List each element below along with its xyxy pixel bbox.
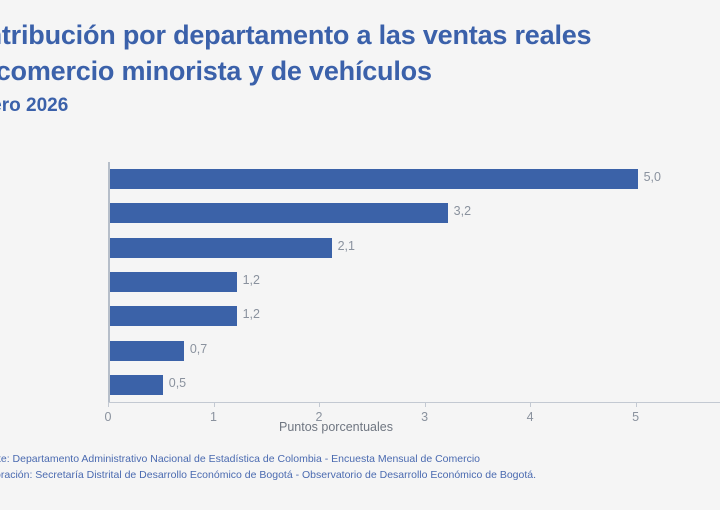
- bar-value-label: 0,7: [190, 342, 207, 356]
- bar-value-label: 0,5: [169, 376, 186, 390]
- elaboration-note: Elaboración: Secretaría Distrital de Des…: [0, 468, 720, 484]
- bar[interactable]: [110, 169, 638, 189]
- source-note: Fuente: Departamento Administrativo Naci…: [0, 452, 720, 468]
- bar-row: Cundinamarca1,2: [110, 265, 720, 299]
- bar[interactable]: [110, 203, 448, 223]
- bar-row: Bogotá5,0: [110, 162, 720, 196]
- bar-chart: Bogotá5,0Otros departamentos3,2Antioquia…: [0, 150, 720, 415]
- bar[interactable]: [110, 341, 184, 361]
- bar-value-label: 5,0: [644, 170, 661, 184]
- bar[interactable]: [110, 272, 237, 292]
- x-axis-tick: [108, 402, 109, 407]
- bar-value-label: 1,2: [243, 273, 260, 287]
- bar[interactable]: [110, 306, 237, 326]
- x-axis-tick: [319, 402, 320, 407]
- bar-rows: Bogotá5,0Otros departamentos3,2Antioquia…: [110, 162, 720, 402]
- bar-row: Antioquia2,1: [110, 231, 720, 265]
- bar-row: Santander0,7: [110, 334, 720, 368]
- bar-value-label: 1,2: [243, 307, 260, 321]
- page-title: Contribución por departamento a las vent…: [0, 18, 720, 89]
- bar-row: Otros departamentos3,2: [110, 196, 720, 230]
- title-line-1: Contribución por departamento a las vent…: [0, 18, 720, 54]
- bar-row: Valle del Cauca1,2: [110, 299, 720, 333]
- x-axis-tick: [530, 402, 531, 407]
- x-axis-tick: [214, 402, 215, 407]
- chart-footnotes: Fuente: Departamento Administrativo Naci…: [0, 452, 720, 484]
- chart-header: Contribución por departamento a las vent…: [0, 18, 720, 117]
- x-axis-tick: [425, 402, 426, 407]
- bar[interactable]: [110, 375, 163, 395]
- bar-value-label: 2,1: [338, 239, 355, 253]
- x-axis: 012345: [108, 402, 720, 403]
- bar[interactable]: [110, 238, 332, 258]
- x-axis-tick: [636, 402, 637, 407]
- x-axis-tick-label: 5: [632, 410, 639, 424]
- chart-subtitle: Febrero 2026: [0, 95, 720, 117]
- bar-value-label: 3,2: [454, 204, 471, 218]
- plot-area: Bogotá5,0Otros departamentos3,2Antioquia…: [108, 162, 720, 402]
- title-line-2: del comercio minorista y de vehículos: [0, 54, 720, 90]
- bar-row: Atlántico0,5: [110, 368, 720, 402]
- x-axis-title: Puntos porcentuales: [108, 420, 564, 434]
